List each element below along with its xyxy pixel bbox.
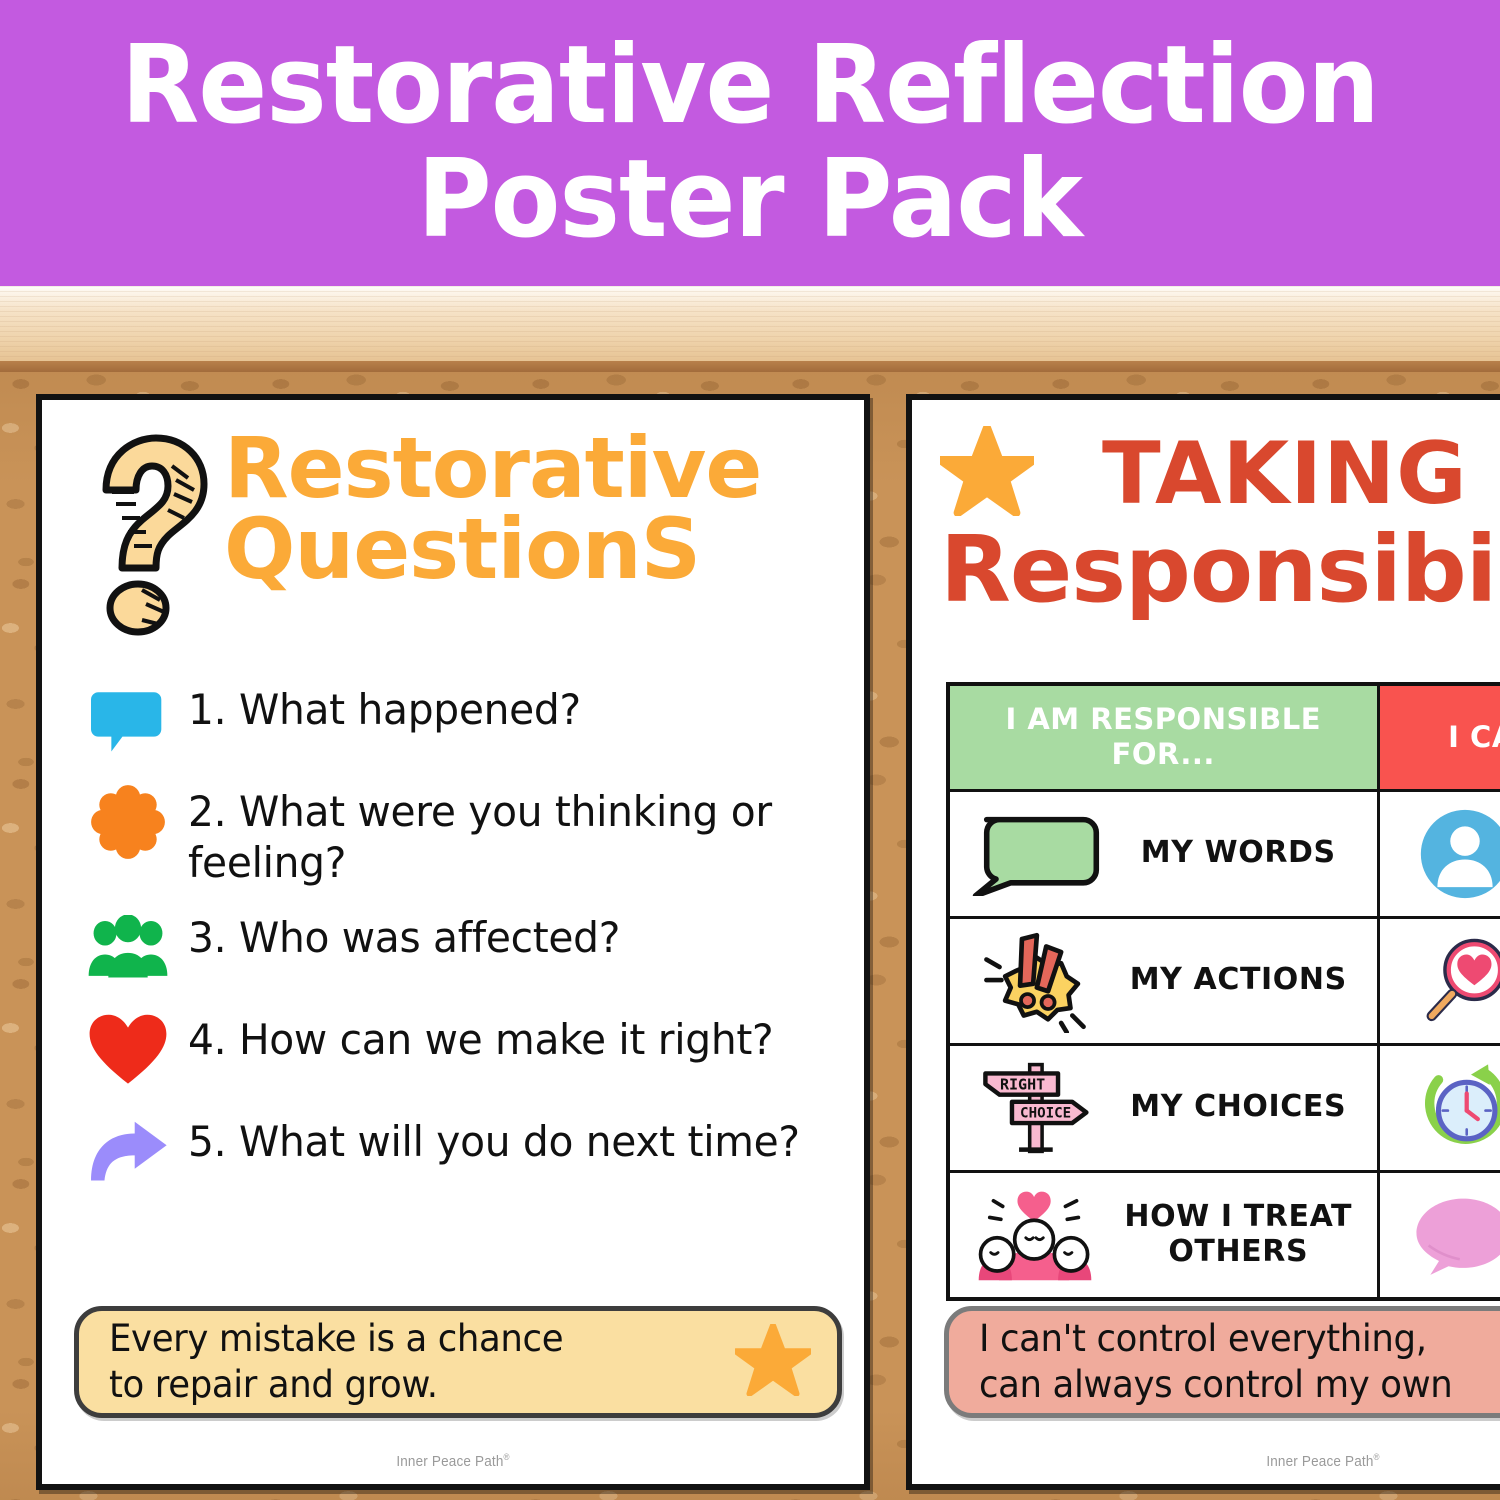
table-cell-my-words: MY WORDS xyxy=(948,790,1378,917)
poster-right-title-line2: Responsibi xyxy=(940,523,1500,617)
banner-title-line2: Poster Pack xyxy=(418,145,1083,255)
table-cell-other-people xyxy=(1378,790,1500,917)
table-header-cant-control-label: I CAN'T CONTROL... xyxy=(1380,704,1500,771)
table-cell-others-feelings xyxy=(1378,917,1500,1044)
signpost-icon: RIGHT CHOICE xyxy=(960,1059,1110,1157)
table-cell-label: MY CHOICES xyxy=(1110,1090,1367,1125)
affirmation-banner-right: I can't control everything, can always c… xyxy=(944,1306,1500,1418)
magnifier-heart-icon xyxy=(1390,934,1500,1028)
brand-footer: Inner Peace Path® xyxy=(83,1452,823,1470)
exclamation-burst-icon xyxy=(960,929,1110,1033)
restorative-questions-list: 1. What happened? 2. What were you think… xyxy=(68,678,858,1212)
person-avatar-icon xyxy=(1390,808,1500,900)
list-item: 2. What were you thinking or feeling? xyxy=(68,780,858,888)
wood-shelf xyxy=(0,286,1500,372)
svg-text:RIGHT: RIGHT xyxy=(1000,1075,1045,1093)
question-mark-doodle-icon xyxy=(76,432,216,647)
people-group-icon xyxy=(68,906,188,990)
table-cell-label: MY WORDS xyxy=(1110,836,1367,871)
heart-icon xyxy=(68,1008,188,1092)
clock-arrow-icon xyxy=(1390,1061,1500,1155)
responsibility-table: I AM RESPONSIBLE FOR... I CAN'T CONTROL.… xyxy=(946,682,1500,1301)
affirmation-line2: to repair and grow. xyxy=(109,1362,563,1408)
table-header-responsible-label: I AM RESPONSIBLE FOR... xyxy=(950,686,1377,789)
poster-left-title: Restorative QuestionS xyxy=(224,428,761,589)
question-text: 5. What will you do next time? xyxy=(188,1110,800,1167)
table-cell-my-choices: RIGHT CHOICE MY CHOICES xyxy=(948,1044,1378,1171)
star-icon xyxy=(735,1324,811,1401)
svg-text:CHOICE: CHOICE xyxy=(1020,1105,1071,1121)
table-row: RIGHT CHOICE MY CHOICES xyxy=(948,1044,1500,1171)
pink-speech-bubble-icon xyxy=(1390,1191,1500,1279)
poster-restorative-questions[interactable]: Restorative QuestionS 1. What happened? xyxy=(36,394,870,1490)
list-item: 1. What happened? xyxy=(68,678,858,762)
banner-title-line1: Restorative Reflection xyxy=(121,31,1379,141)
list-item: 5. What will you do next time? xyxy=(68,1110,858,1194)
table-cell-the-past xyxy=(1378,1044,1500,1171)
affirmation-line2: can always control my own xyxy=(979,1362,1452,1408)
affirmation-line1: Every mistake is a chance xyxy=(109,1316,563,1362)
table-cell-label: MY ACTIONS xyxy=(1110,963,1367,998)
list-item: 3. Who was affected? xyxy=(68,906,858,990)
question-text: 1. What happened? xyxy=(188,678,581,735)
three-friends-heart-icon xyxy=(960,1184,1110,1286)
star-icon xyxy=(940,426,1036,521)
brand-footer: Inner Peace Path® xyxy=(953,1452,1500,1470)
poster-left-header: Restorative QuestionS xyxy=(76,428,856,658)
poster-right-header: TAKING Responsibi xyxy=(940,426,1500,617)
table-row: MY WORDS xyxy=(948,790,1500,917)
question-text: 3. Who was affected? xyxy=(188,906,620,963)
green-speech-bubble-icon xyxy=(960,812,1110,896)
list-item: 4. How can we make it right? xyxy=(68,1008,858,1092)
poster-left-title-line2: QuestionS xyxy=(224,509,761,590)
table-cell-my-actions: MY ACTIONS xyxy=(948,917,1378,1044)
page-title-banner: Restorative Reflection Poster Pack xyxy=(0,0,1500,286)
table-cell-label: HOW I TREAT OTHERS xyxy=(1110,1200,1367,1270)
curved-arrow-icon xyxy=(68,1110,188,1194)
table-header-cant-control: I CAN'T CONTROL... xyxy=(1378,684,1500,790)
speech-bubble-icon xyxy=(68,678,188,762)
table-row: HOW I TREAT OTHERS WH SAY xyxy=(948,1171,1500,1299)
affirmation-line1: I can't control everything, xyxy=(979,1316,1452,1362)
table-header-row: I AM RESPONSIBLE FOR... I CAN'T CONTROL.… xyxy=(948,684,1500,790)
affirmation-banner-left: Every mistake is a chance to repair and … xyxy=(74,1306,842,1418)
table-cell-how-i-treat-others: HOW I TREAT OTHERS xyxy=(948,1171,1378,1299)
poster-right-title-line1: TAKING xyxy=(1102,431,1468,517)
question-text: 4. How can we make it right? xyxy=(188,1008,773,1065)
table-header-responsible: I AM RESPONSIBLE FOR... xyxy=(948,684,1378,790)
flower-burst-icon xyxy=(68,780,188,864)
table-row: MY ACTIONS xyxy=(948,917,1500,1044)
poster-taking-responsibility[interactable]: TAKING Responsibi I AM RESPONSIBLE FOR..… xyxy=(906,394,1500,1490)
question-text: 2. What were you thinking or feeling? xyxy=(188,780,838,888)
table-cell-what-others-say: WH SAY xyxy=(1378,1171,1500,1299)
